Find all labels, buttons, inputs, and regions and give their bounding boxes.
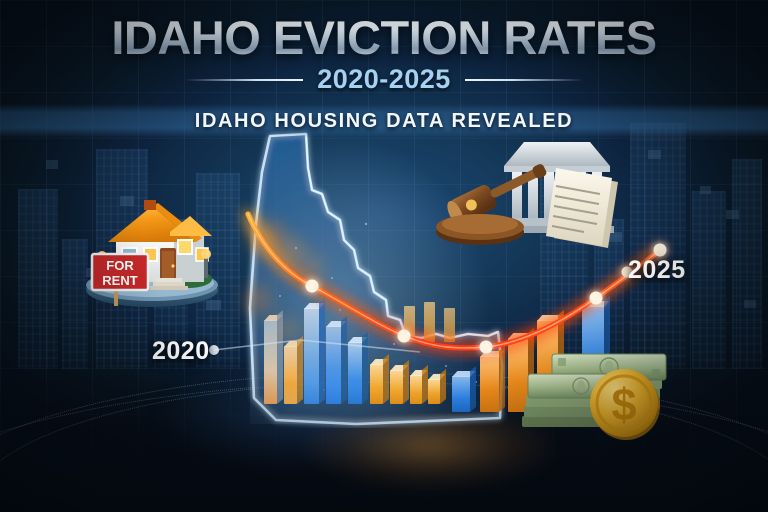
- coin-dollar-symbol: $: [611, 379, 636, 430]
- infographic-canvas: FOR RENT: [0, 0, 768, 512]
- year-label-end: 2025: [628, 256, 686, 285]
- year-range-row: 2020-2025: [0, 64, 768, 95]
- rule-left: [185, 79, 303, 81]
- house-for-rent-icon: FOR RENT: [78, 186, 228, 310]
- courthouse-gavel-documents-icon: [432, 136, 628, 262]
- header-block: IDAHO EVICTION RATES 2020-2025: [0, 14, 768, 95]
- year-label-start: 2020: [152, 337, 210, 366]
- cash-stack-coin-icon: $: [514, 344, 690, 448]
- for-rent-line2: RENT: [102, 273, 137, 288]
- page-title: IDAHO EVICTION RATES: [111, 14, 656, 61]
- page-subtitle: IDAHO HOUSING DATA REVEALED: [0, 110, 768, 133]
- rule-right: [465, 79, 583, 81]
- for-rent-line1: FOR: [106, 258, 134, 273]
- year-range: 2020-2025: [317, 64, 451, 95]
